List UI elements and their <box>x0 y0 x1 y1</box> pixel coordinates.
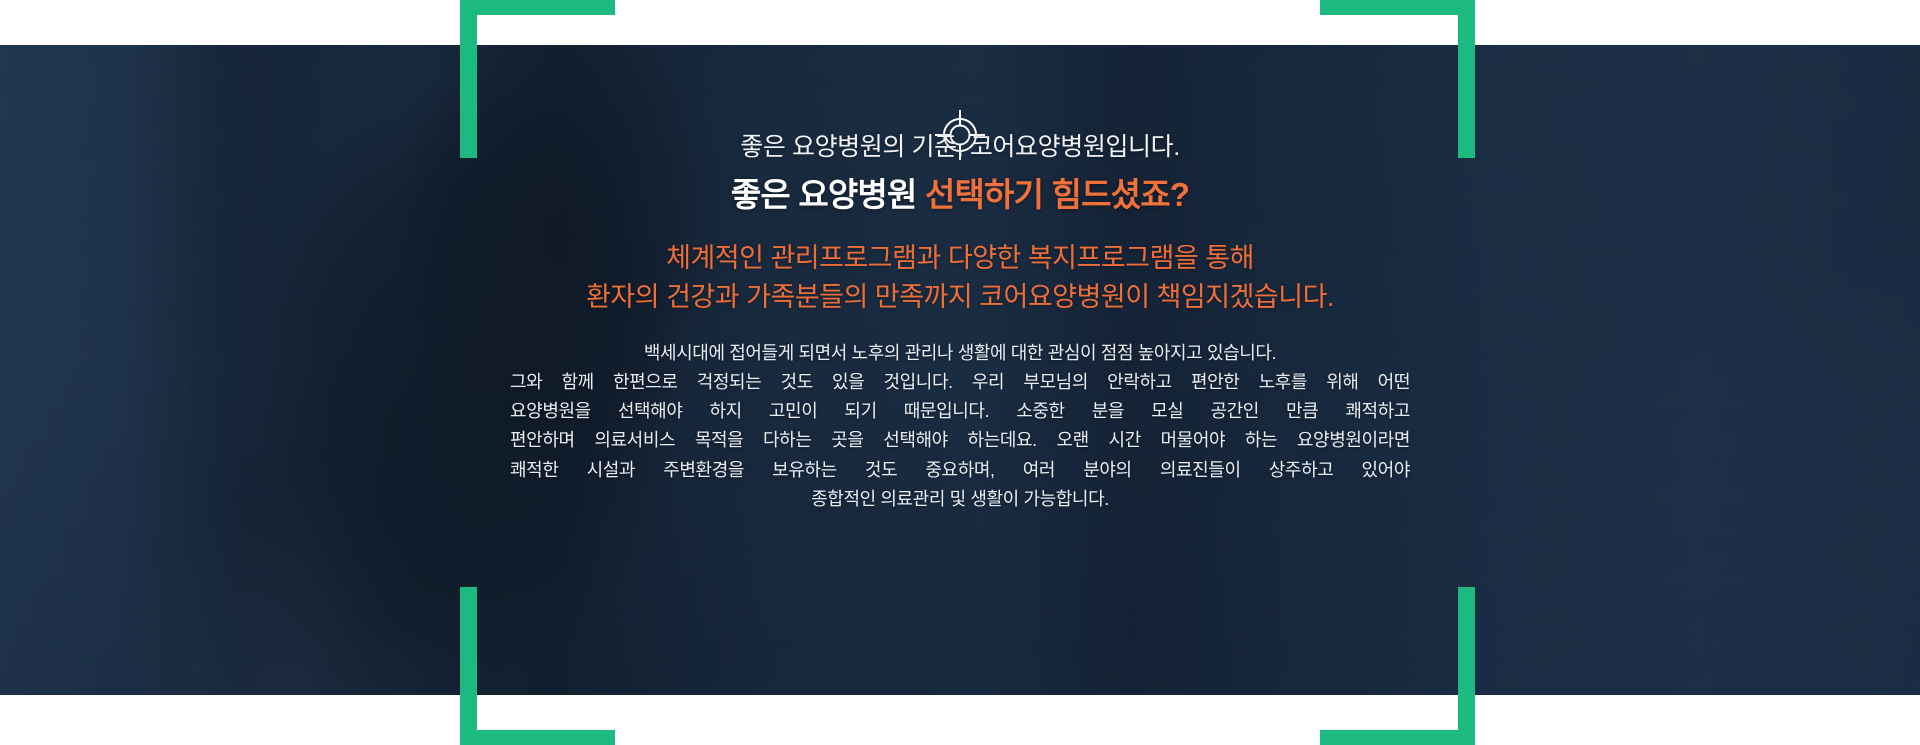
subheadline-line: 환자의 건강과 가족분들의 만족까지 코어요양병원이 책임지겠습니다. <box>0 278 1920 317</box>
corner-bracket-bottom-right <box>1320 587 1475 745</box>
crosshair-target-icon <box>932 45 988 107</box>
hero-headline: 좋은 요양병원 선택하기 힘드셨죠? <box>0 174 1920 217</box>
subheadline-line: 체계적인 관리프로그램과 다양한 복지프로그램을 통해 <box>0 239 1920 278</box>
hero-content: 좋은 요양병원의 기준, 코어요양병원입니다. 좋은 요양병원 선택하기 힘드셨… <box>0 45 1920 514</box>
body-line: 쾌적한 시설과 주변환경을 보유하는 것도 중요하며, 여러 분야의 의료진들이… <box>510 456 1410 485</box>
hero-body-paragraph: 백세시대에 접어들게 되면서 노후의 관리나 생활에 대한 관심이 점점 높아지… <box>510 339 1410 514</box>
body-line: 백세시대에 접어들게 되면서 노후의 관리나 생활에 대한 관심이 점점 높아지… <box>510 339 1410 368</box>
headline-white-segment: 좋은 요양병원 <box>731 176 925 213</box>
hero-subheadline: 체계적인 관리프로그램과 다양한 복지프로그램을 통해 환자의 건강과 가족분들… <box>0 239 1920 317</box>
body-line: 요양병원을 선택해야 하지 고민이 되기 때문입니다. 소중한 분을 모실 공간… <box>510 397 1410 426</box>
bracket-vertical-arm <box>460 0 477 158</box>
corner-bracket-top-left <box>460 0 615 158</box>
headline-accent-segment: 선택하기 힘드셨죠? <box>925 176 1189 213</box>
body-line: 그와 함께 한편으로 걱정되는 것도 있을 것입니다. 우리 부모님의 안락하고… <box>510 368 1410 397</box>
corner-bracket-top-right <box>1320 0 1475 158</box>
bracket-horizontal-arm <box>460 730 615 745</box>
body-line: 편안하며 의료서비스 목적을 다하는 곳을 선택해야 하는데요. 오랜 시간 머… <box>510 426 1410 455</box>
bracket-horizontal-arm <box>1320 0 1475 15</box>
corner-bracket-bottom-left <box>460 587 615 745</box>
hero-eyebrow-text: 좋은 요양병원의 기준, 코어요양병원입니다. <box>0 131 1920 165</box>
bracket-horizontal-arm <box>460 0 615 15</box>
bracket-vertical-arm <box>1458 587 1475 745</box>
body-line: 종합적인 의료관리 및 생활이 가능합니다. <box>510 485 1410 514</box>
bracket-vertical-arm <box>1458 0 1475 158</box>
bracket-vertical-arm <box>460 587 477 745</box>
hero-banner: 좋은 요양병원의 기준, 코어요양병원입니다. 좋은 요양병원 선택하기 힘드셨… <box>0 0 1920 745</box>
bracket-horizontal-arm <box>1320 730 1475 745</box>
